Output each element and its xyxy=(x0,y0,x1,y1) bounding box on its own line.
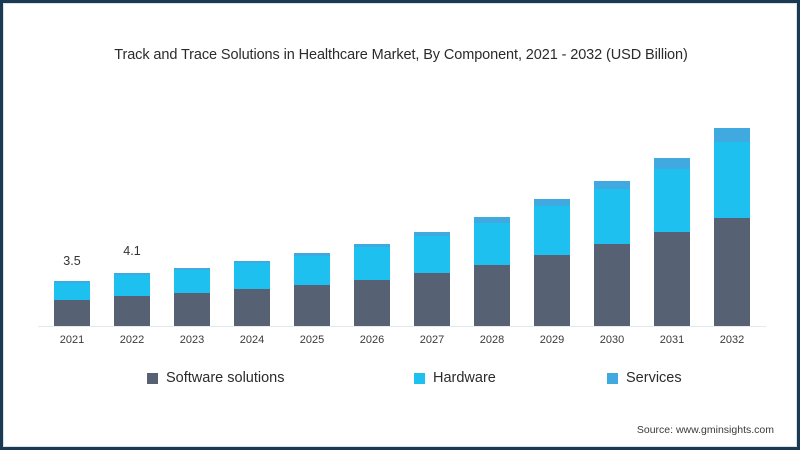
legend-label-0: Software solutions xyxy=(166,370,284,386)
page-title: Track and Trace Solutions in Healthcare … xyxy=(4,47,798,63)
x-tick-2027: 2027 xyxy=(402,334,462,346)
bar-segment-software-2032 xyxy=(714,218,750,326)
bar-2024 xyxy=(234,261,270,326)
bar-segment-hardware-2030 xyxy=(594,189,630,244)
x-axis-line xyxy=(38,326,766,327)
bar-segment-services-2031 xyxy=(654,158,690,169)
bar-segment-hardware-2028 xyxy=(474,223,510,265)
bar-segment-software-2022 xyxy=(114,296,150,326)
plot-area: 3.54.1 xyxy=(38,99,766,327)
x-tick-2031: 2031 xyxy=(642,334,702,346)
bar-2022 xyxy=(114,273,150,326)
bar-segment-hardware-2029 xyxy=(534,206,570,255)
bar-2021 xyxy=(54,281,90,326)
bar-2032 xyxy=(714,128,750,326)
bar-2026 xyxy=(354,244,390,326)
legend-swatch-icon-2 xyxy=(607,373,618,384)
x-tick-2029: 2029 xyxy=(522,334,582,346)
bar-segment-hardware-2022 xyxy=(114,275,150,296)
bar-segment-software-2021 xyxy=(54,300,90,326)
bar-segment-services-2030 xyxy=(594,181,630,189)
x-tick-2028: 2028 xyxy=(462,334,522,346)
bar-2031 xyxy=(654,158,690,326)
legend-swatch-icon-1 xyxy=(414,373,425,384)
bar-segment-software-2026 xyxy=(354,280,390,326)
bar-segment-software-2031 xyxy=(654,232,690,326)
bar-segment-software-2030 xyxy=(594,244,630,326)
bar-2027 xyxy=(414,232,450,326)
source-attribution: Source: www.gminsights.com xyxy=(637,424,774,436)
bar-segment-hardware-2027 xyxy=(414,236,450,273)
bar-segment-hardware-2025 xyxy=(294,256,330,285)
bar-2025 xyxy=(294,253,330,326)
legend-label-2: Services xyxy=(626,370,682,386)
bar-segment-software-2029 xyxy=(534,255,570,326)
chart-canvas: Track and Trace Solutions in Healthcare … xyxy=(3,3,797,447)
x-tick-2023: 2023 xyxy=(162,334,222,346)
bar-segment-software-2027 xyxy=(414,273,450,326)
legend-item-0[interactable]: Software solutions xyxy=(147,370,284,386)
legend-item-1[interactable]: Hardware xyxy=(414,370,496,386)
legend-swatch-icon-0 xyxy=(147,373,158,384)
x-tick-2026: 2026 xyxy=(342,334,402,346)
bar-segment-software-2024 xyxy=(234,289,270,326)
bar-segment-hardware-2032 xyxy=(714,142,750,218)
legend-item-2[interactable]: Services xyxy=(607,370,682,386)
bar-segment-software-2028 xyxy=(474,265,510,326)
x-tick-2030: 2030 xyxy=(582,334,642,346)
chart-image: Track and Trace Solutions in Healthcare … xyxy=(0,0,800,450)
bar-segment-services-2032 xyxy=(714,128,750,142)
bar-segment-hardware-2021 xyxy=(54,283,90,300)
x-tick-2032: 2032 xyxy=(702,334,762,346)
bar-2023 xyxy=(174,268,210,326)
bar-segment-hardware-2023 xyxy=(174,270,210,293)
x-tick-2024: 2024 xyxy=(222,334,282,346)
bar-2029 xyxy=(534,199,570,326)
bar-segment-software-2023 xyxy=(174,293,210,326)
bar-segment-hardware-2024 xyxy=(234,263,270,289)
x-axis-tick-labels: 2021202220232024202520262027202820292030… xyxy=(38,334,766,354)
bar-segment-software-2025 xyxy=(294,285,330,326)
bar-segment-hardware-2031 xyxy=(654,169,690,232)
bar-segment-hardware-2026 xyxy=(354,247,390,280)
data-label-2021: 3.5 xyxy=(42,254,102,268)
chart-legend: Software solutionsHardwareServices xyxy=(4,370,798,394)
legend-label-1: Hardware xyxy=(433,370,496,386)
x-tick-2025: 2025 xyxy=(282,334,342,346)
bar-segment-services-2029 xyxy=(534,199,570,206)
data-label-2022: 4.1 xyxy=(102,244,162,258)
bar-2028 xyxy=(474,217,510,326)
x-tick-2021: 2021 xyxy=(42,334,102,346)
bar-2030 xyxy=(594,181,630,326)
x-tick-2022: 2022 xyxy=(102,334,162,346)
